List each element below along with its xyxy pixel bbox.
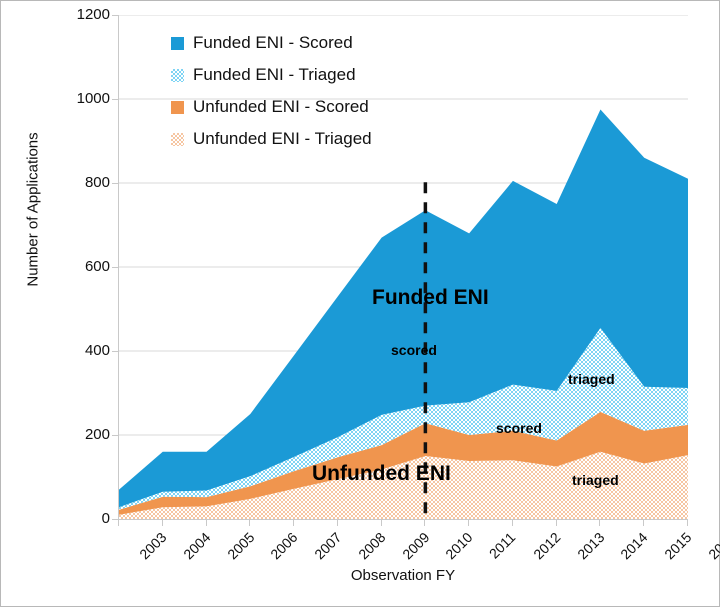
x-axis-tick-mark bbox=[206, 520, 207, 526]
legend-swatch-icon bbox=[171, 133, 184, 146]
x-axis-tick-mark bbox=[424, 520, 425, 526]
y-axis-tick-label: 800 bbox=[48, 174, 110, 191]
chart-legend: Funded ENI - ScoredFunded ENI - TriagedU… bbox=[171, 27, 372, 155]
x-axis-tick-label: 2015 bbox=[661, 529, 694, 562]
y-axis-tick-label: 600 bbox=[48, 258, 110, 275]
x-axis-tick-label: 2004 bbox=[180, 529, 213, 562]
x-axis-tick-label: 2003 bbox=[136, 529, 169, 562]
y-axis-tick-label: 1000 bbox=[48, 90, 110, 107]
annotation-unfunded-eni: Unfunded ENI bbox=[312, 462, 451, 486]
y-axis-tick-label: 1200 bbox=[48, 6, 110, 23]
x-axis-tick-label: 2010 bbox=[443, 529, 476, 562]
legend-swatch-icon bbox=[171, 69, 184, 82]
y-axis-tick-label: 400 bbox=[48, 342, 110, 359]
legend-label: Unfunded ENI - Triaged bbox=[193, 129, 372, 149]
x-axis-tick-mark bbox=[118, 520, 119, 526]
x-axis-tick-mark bbox=[249, 520, 250, 526]
legend-item: Funded ENI - Scored bbox=[171, 27, 372, 59]
chart-figure: Number of Applications Observation FY 02… bbox=[0, 0, 720, 607]
x-axis-tick-mark bbox=[337, 520, 338, 526]
x-axis-tick-mark bbox=[643, 520, 644, 526]
x-axis-tick-label: 2013 bbox=[574, 529, 607, 562]
x-axis-tick-label: 2005 bbox=[224, 529, 257, 562]
x-axis-tick-mark bbox=[293, 520, 294, 526]
x-axis-title: Observation FY bbox=[118, 567, 688, 584]
x-axis-tick-mark bbox=[556, 520, 557, 526]
x-axis-tick-mark bbox=[468, 520, 469, 526]
x-axis-tick-label: 2009 bbox=[399, 529, 432, 562]
legend-item: Unfunded ENI - Scored bbox=[171, 91, 372, 123]
x-axis-tick-label: 2011 bbox=[486, 529, 519, 562]
y-axis-tick-label: 200 bbox=[48, 426, 110, 443]
x-axis-tick-mark bbox=[512, 520, 513, 526]
legend-swatch-icon bbox=[171, 37, 184, 50]
x-axis-tick-label: 2007 bbox=[311, 529, 344, 562]
annotation-scored: scored bbox=[391, 342, 437, 358]
legend-label: Funded ENI - Scored bbox=[193, 33, 353, 53]
x-axis-tick-label: 2014 bbox=[618, 529, 651, 562]
annotation-scored: scored bbox=[496, 420, 542, 436]
legend-item: Funded ENI - Triaged bbox=[171, 59, 372, 91]
x-axis-tick-label: 2006 bbox=[267, 529, 300, 562]
x-axis-tick-mark bbox=[599, 520, 600, 526]
legend-item: Unfunded ENI - Triaged bbox=[171, 123, 372, 155]
x-axis-tick-label: 2012 bbox=[530, 529, 563, 562]
x-axis-tick-mark bbox=[381, 520, 382, 526]
x-axis-tick-mark bbox=[687, 520, 688, 526]
legend-label: Unfunded ENI - Scored bbox=[193, 97, 369, 117]
annotation-triaged: triaged bbox=[572, 472, 619, 488]
x-axis-tick-mark bbox=[162, 520, 163, 526]
x-axis-tick-label: 2016 bbox=[705, 529, 720, 562]
y-axis-tick-label: 0 bbox=[48, 510, 110, 527]
annotation-funded-eni: Funded ENI bbox=[372, 286, 489, 310]
y-axis-title: Number of Applications bbox=[25, 100, 42, 320]
annotation-triaged: triaged bbox=[568, 371, 615, 387]
x-axis-tick-label: 2008 bbox=[355, 529, 388, 562]
legend-swatch-icon bbox=[171, 101, 184, 114]
legend-label: Funded ENI - Triaged bbox=[193, 65, 356, 85]
